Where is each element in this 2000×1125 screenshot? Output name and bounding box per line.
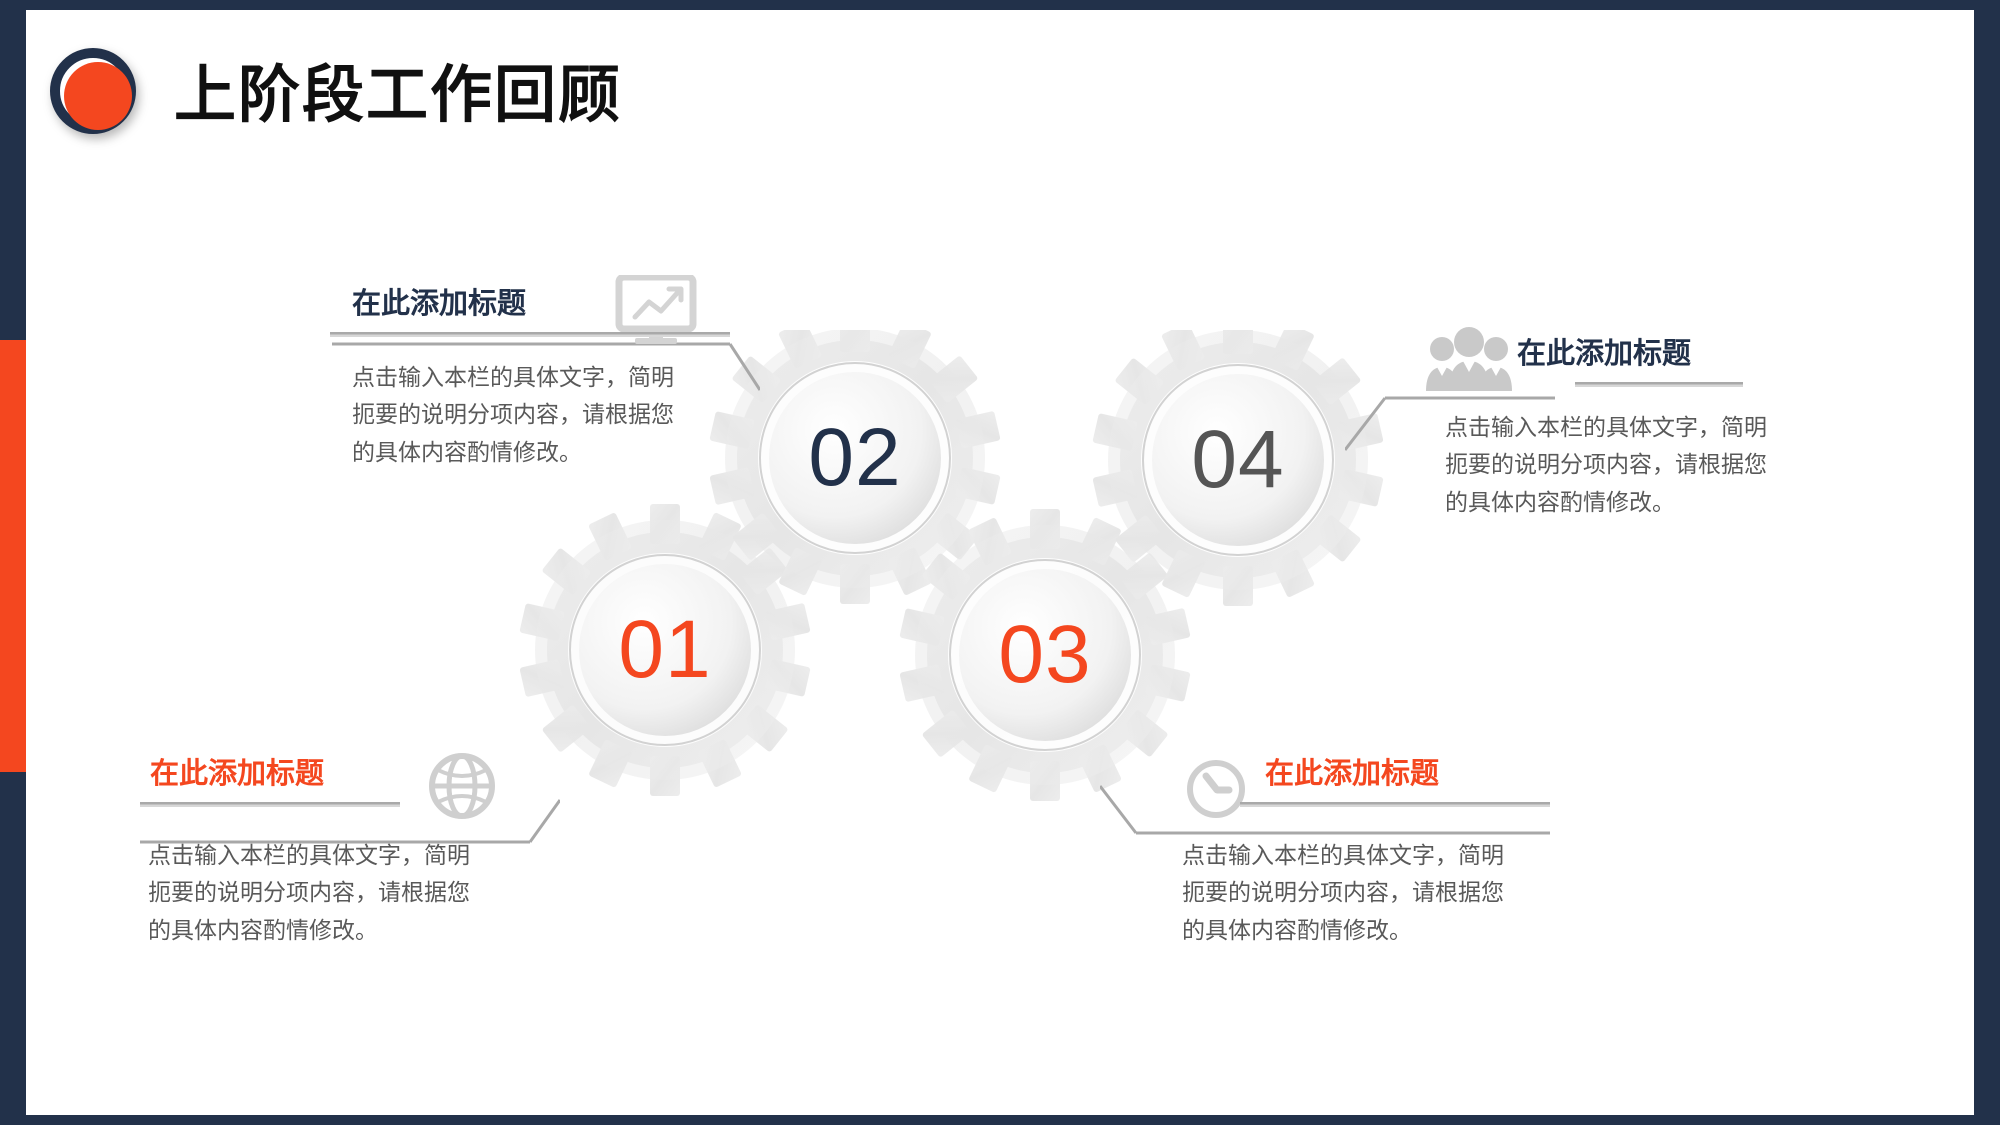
- callout-bottom-right-body: 点击输入本栏的具体文字，简明 扼要的说明分项内容，请根据您 的具体内容酌情修改。: [1182, 837, 1560, 949]
- callout-bottom-right-title: 在此添加标题: [1265, 760, 1560, 789]
- callout-top-left: 在此添加标题 点击输入本栏的具体文字，简明 扼要的说明分项内容，请根据您 的具体…: [330, 290, 730, 471]
- callout-bottom-right-body-line-1: 点击输入本栏的具体文字，简明: [1182, 837, 1560, 874]
- callout-top-right-title: 在此添加标题: [1517, 340, 1795, 369]
- callout-top-right-body-line-2: 扼要的说明分项内容，请根据您: [1445, 446, 1795, 483]
- callout-bottom-left-body-line-1: 点击输入本栏的具体文字，简明: [148, 837, 540, 874]
- callout-bottom-left-title: 在此添加标题: [150, 760, 540, 789]
- slide-header: 上阶段工作回顾: [50, 48, 622, 144]
- callout-bottom-left-body: 点击输入本栏的具体文字，简明 扼要的说明分项内容，请根据您 的具体内容酌情修改。: [148, 837, 540, 949]
- callout-bottom-left-body-line-2: 扼要的说明分项内容，请根据您: [148, 874, 540, 911]
- callout-top-right: 在此添加标题 点击输入本栏的具体文字，简明 扼要的说明分项内容，请根据您 的具体…: [1385, 340, 1795, 521]
- callout-bottom-right-body-line-2: 扼要的说明分项内容，请根据您: [1182, 874, 1560, 911]
- callout-top-left-body-line-3: 的具体内容酌情修改。: [352, 434, 730, 471]
- right-edge-bar: [1974, 0, 2000, 1125]
- callout-top-left-rule: [330, 332, 730, 337]
- callout-bottom-right: 在此添加标题 点击输入本栏的具体文字，简明 扼要的说明分项内容，请根据您 的具体…: [1100, 760, 1560, 949]
- header-bullet-core: [64, 62, 132, 130]
- callout-top-right-rule: [1575, 382, 1743, 387]
- top-edge-bar: [0, 0, 2000, 10]
- callout-bottom-right-rule: [1240, 802, 1550, 807]
- callout-bottom-left-rule: [140, 802, 400, 807]
- callout-top-left-body-line-1: 点击输入本栏的具体文字，简明: [352, 359, 730, 396]
- callout-bottom-right-body-line-3: 的具体内容酌情修改。: [1182, 912, 1560, 949]
- callout-top-left-body: 点击输入本栏的具体文字，简明 扼要的说明分项内容，请根据您 的具体内容酌情修改。: [352, 359, 730, 471]
- page-title: 上阶段工作回顾: [174, 65, 622, 127]
- callout-top-right-body: 点击输入本栏的具体文字，简明 扼要的说明分项内容，请根据您 的具体内容酌情修改。: [1445, 409, 1795, 521]
- callout-top-right-body-line-1: 点击输入本栏的具体文字，简明: [1445, 409, 1795, 446]
- left-edge-accent-bar: [0, 340, 26, 772]
- header-bullet-icon: [50, 48, 146, 144]
- callout-top-left-title: 在此添加标题: [352, 290, 730, 319]
- callout-bottom-left-body-line-3: 的具体内容酌情修改。: [148, 912, 540, 949]
- callout-top-right-body-line-3: 的具体内容酌情修改。: [1445, 484, 1795, 521]
- slide-canvas: 上阶段工作回顾: [0, 0, 2000, 1125]
- callout-bottom-left: 在此添加标题 点击输入本栏的具体文字，简明 扼要的说明分项内容，请根据您 的具体…: [140, 760, 540, 949]
- bottom-edge-bar: [0, 1115, 2000, 1125]
- callout-top-left-body-line-2: 扼要的说明分项内容，请根据您: [352, 396, 730, 433]
